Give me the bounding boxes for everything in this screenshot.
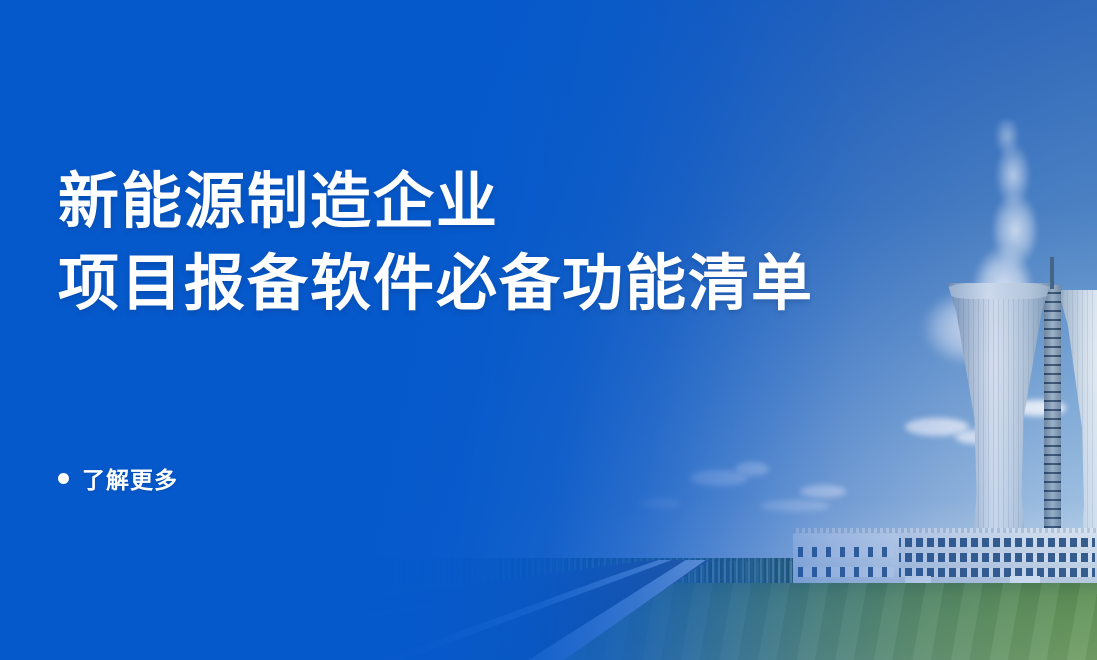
page-title: 新能源制造企业 项目报备软件必备功能清单 [58, 160, 814, 324]
learn-more-link[interactable]: 了解更多 [58, 461, 178, 495]
headline-line-1: 新能源制造企业 [58, 160, 814, 242]
hero-banner: 新能源制造企业 项目报备软件必备功能清单 了解更多 [0, 0, 1097, 660]
headline-line-2: 项目报备软件必备功能清单 [58, 242, 814, 324]
learn-more-label: 了解更多 [82, 461, 178, 495]
banner-content: 新能源制造企业 项目报备软件必备功能清单 了解更多 [58, 0, 1018, 660]
bullet-dot-icon [58, 473, 69, 484]
